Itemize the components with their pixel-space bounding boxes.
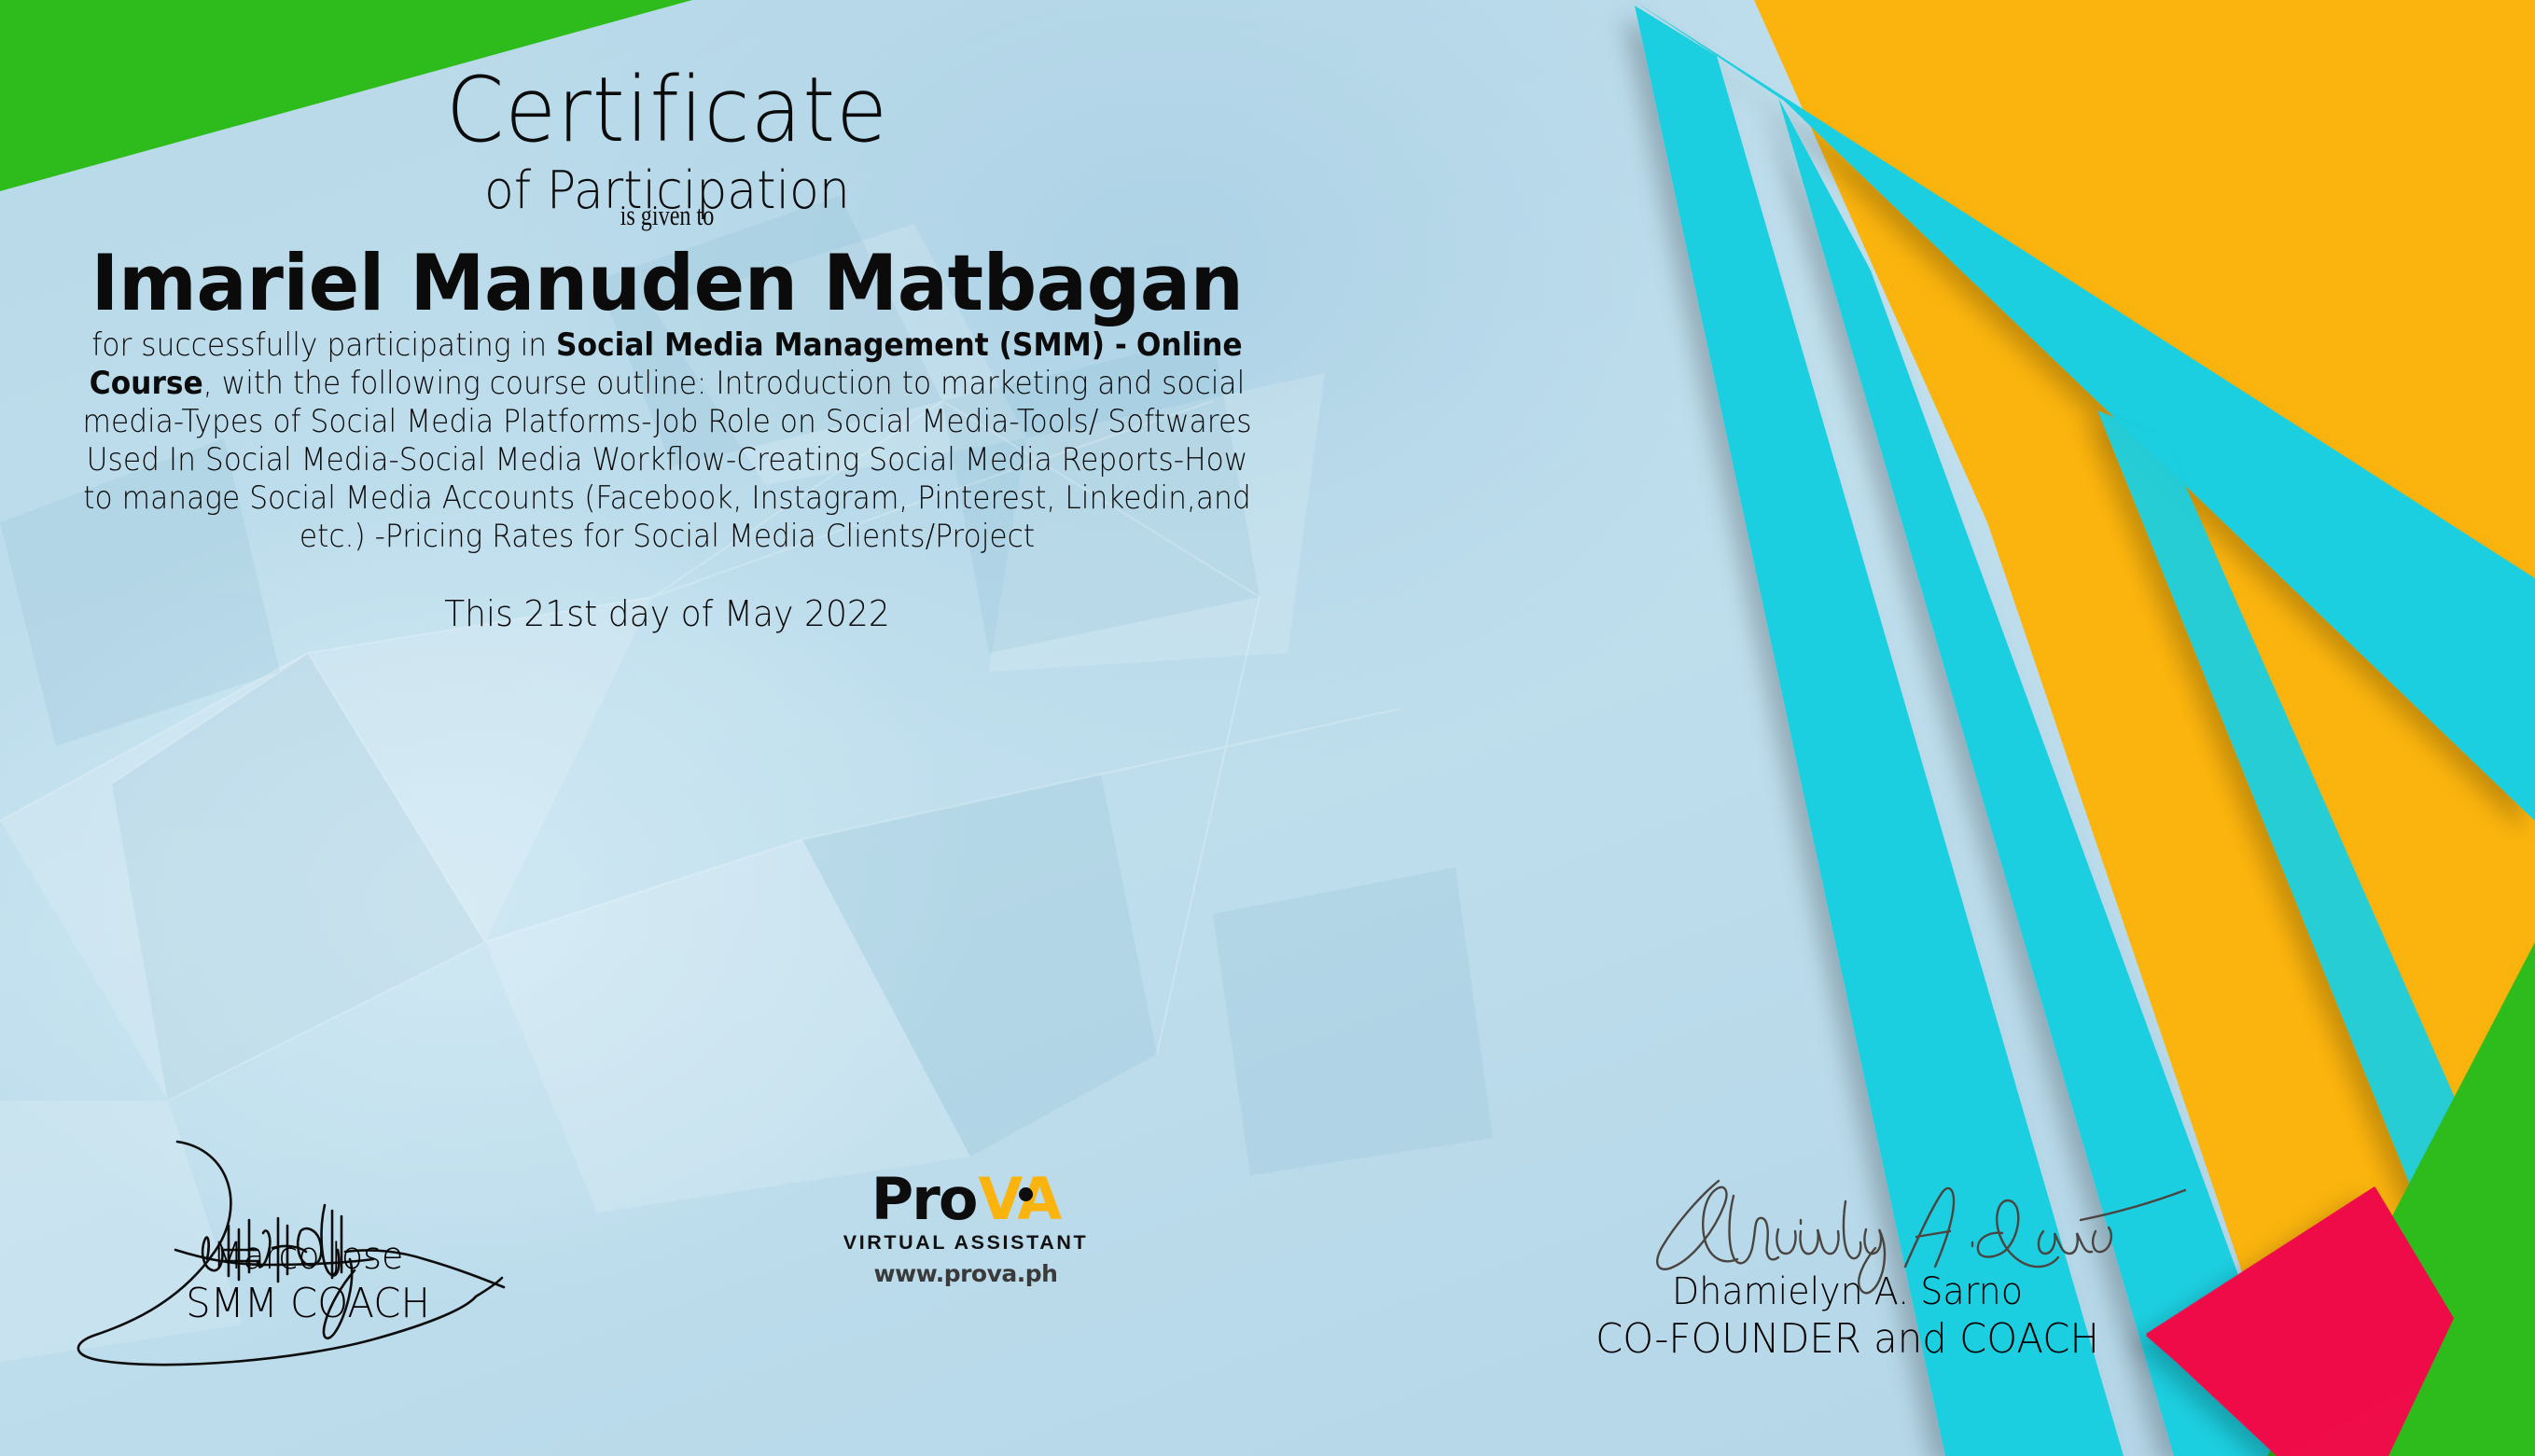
- logo-tagline: VIRTUAL ASSISTANT: [826, 1233, 1106, 1254]
- signature-block-left: Marco Jose SMM COACH: [65, 1147, 550, 1327]
- signature-mark-left: [65, 1147, 550, 1241]
- prova-logo: ProVA VIRTUAL ASSISTANT www.prova.ph: [826, 1171, 1106, 1285]
- certificate-canvas: Certificate of Participation is given to…: [0, 0, 2535, 1456]
- citation-paragraph: for successfully participating in Social…: [79, 326, 1255, 556]
- citation-lead: for successfully participating in: [91, 326, 556, 364]
- given-to-label: is given to: [146, 199, 1187, 232]
- signatory-name-right: Dhamielyn A. Sarno: [1502, 1270, 2194, 1313]
- signature-block-right: Dhamielyn A. Sarno CO-FOUNDER and COACH: [1483, 1183, 2211, 1363]
- logo-wordmark: ProVA: [826, 1171, 1106, 1228]
- logo-website: www.prova.ph: [826, 1262, 1106, 1285]
- logo-va-text: VA: [978, 1165, 1060, 1233]
- date-line: This 21st day of May 2022: [34, 593, 1302, 634]
- signatory-name-left: Marco Jose: [77, 1235, 538, 1278]
- page-title: Certificate: [47, 65, 1288, 157]
- course-name-part-1: Social Media Management (SMM) -: [556, 326, 1127, 364]
- citation-outline: , with the following course outline: Int…: [82, 365, 1251, 555]
- recipient-name: Imariel Manuden Matbagan: [20, 238, 1314, 328]
- signatory-role-right: CO-FOUNDER and COACH: [1502, 1315, 2194, 1363]
- logo-pro-text: Pro: [871, 1165, 977, 1233]
- signature-mark-right: [1483, 1183, 2211, 1276]
- signatory-role-left: SMM COACH: [77, 1280, 538, 1327]
